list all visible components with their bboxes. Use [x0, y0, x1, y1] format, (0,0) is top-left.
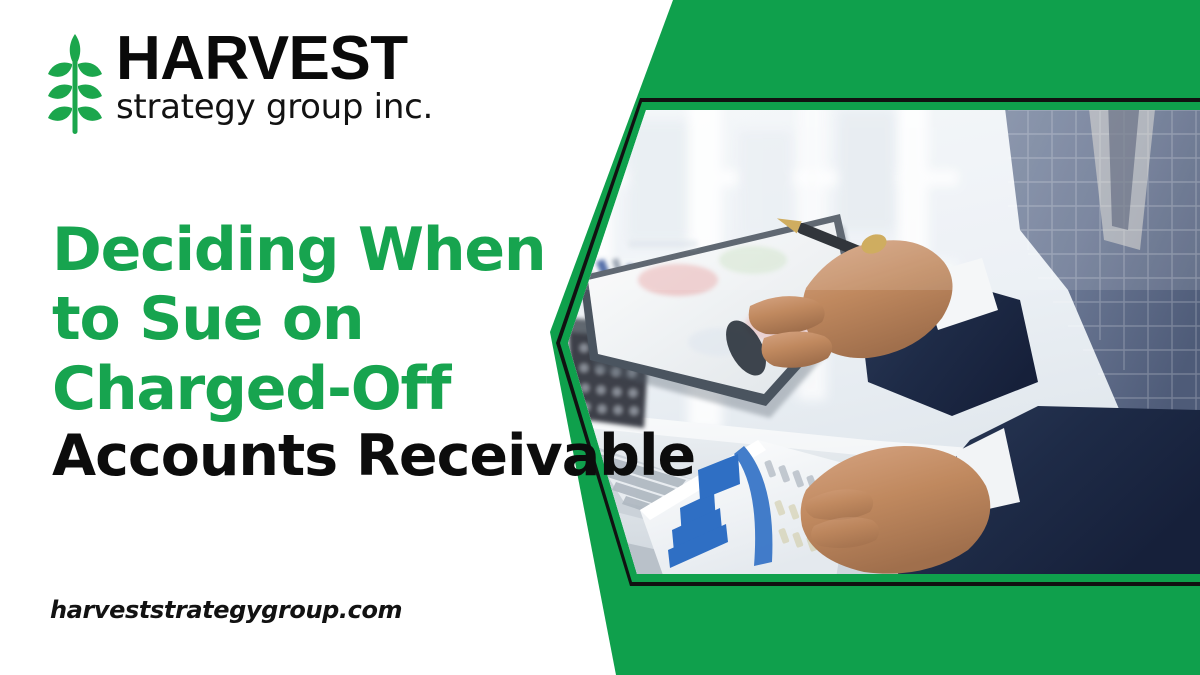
- website-url[interactable]: harveststrategygroup.com: [50, 596, 402, 624]
- hero-photo-illustration: [568, 110, 1200, 574]
- headline-line-4: Accounts Receivable: [52, 424, 572, 490]
- brand-logo[interactable]: HARVEST strategy group inc.: [44, 28, 433, 138]
- wheat-sheaf-icon: [44, 30, 106, 138]
- logo-subtitle: strategy group inc.: [116, 89, 433, 126]
- headline-line-1: Deciding When: [52, 216, 572, 285]
- logo-wordmark: HARVEST strategy group inc.: [116, 28, 433, 126]
- blog-banner: HARVEST strategy group inc. Deciding Whe…: [0, 0, 1200, 675]
- headline-line-2: to Sue on: [52, 285, 572, 354]
- headline-line-3: Charged-Off: [52, 355, 572, 424]
- page-title: Deciding When to Sue on Charged-Off Acco…: [52, 216, 572, 490]
- hero-photo: [568, 110, 1200, 574]
- logo-title: HARVEST: [116, 30, 433, 87]
